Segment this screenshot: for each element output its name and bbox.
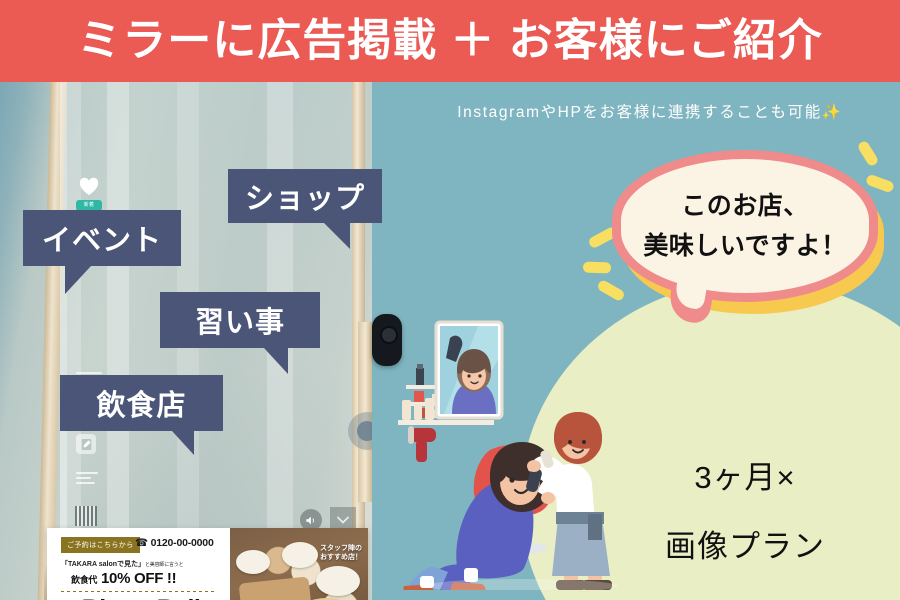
- plan-label: 3ヶ月× 画像プラン: [630, 452, 860, 566]
- subheadline: InstagramやHPをお客様に連携することも可能✨: [400, 97, 900, 125]
- customer-quote-bubble: このお店、 美味しいですよ！: [612, 150, 892, 325]
- ad-discount-value: 10% OFF !!: [101, 570, 176, 587]
- bubble-shop[interactable]: ショップ: [228, 169, 382, 223]
- menu-lines-icon[interactable]: [76, 472, 98, 486]
- bubble-restaurant-label: 飲食店: [96, 382, 186, 424]
- quote-bubble-text: このお店、 美味しいですよ！: [621, 159, 869, 293]
- header-banner: ミラーに広告掲載 ＋ お客様にご紹介: [0, 0, 900, 82]
- bubble-lessons-label: 習い事: [195, 299, 285, 341]
- ad-food-board: [239, 576, 312, 600]
- quote-line-1: このお店、: [681, 186, 809, 226]
- mirror-frame-left-inner: [60, 82, 67, 600]
- ad-recommend-label: スタッフ陣の おすすめ店！: [320, 544, 362, 562]
- bubble-shop-label: ショップ: [245, 175, 365, 217]
- ad-recommend-line1: スタッフ陣の: [320, 544, 362, 553]
- sparkle-dash-icon: [583, 262, 611, 274]
- advertisement-card[interactable]: ご予約はこちらから ☎ 0120-00-0000 「TAKARA salonで見…: [47, 528, 368, 600]
- bubble-event[interactable]: イベント: [23, 210, 181, 266]
- ad-brand-name: Bistro Bell: [61, 595, 221, 600]
- ad-food-plate: [236, 550, 270, 574]
- ad-recommend-line2: おすすめ店！: [320, 553, 362, 562]
- ad-divider-top: [61, 591, 217, 592]
- page-title: ミラーに広告掲載 ＋ お客様にご紹介: [77, 19, 823, 63]
- sidebar-divider: [76, 372, 102, 374]
- qr-code-icon[interactable]: [75, 506, 97, 526]
- salon-illustration: [392, 290, 624, 590]
- plan-type: 画像プラン: [665, 521, 825, 566]
- heart-icon[interactable]: [78, 176, 100, 196]
- subheadline-text: InstagramやHPをお客様に連携することも可能✨: [457, 100, 842, 122]
- ad-card-info: ご予約はこちらから ☎ 0120-00-0000 「TAKARA salonで見…: [47, 528, 230, 600]
- ad-food-plate: [282, 542, 318, 568]
- ad-food-plate: [316, 566, 360, 596]
- bubble-tail: [65, 266, 91, 294]
- plan-duration: 3ヶ月×: [694, 452, 795, 497]
- ad-quote-small: と美容師に言うと: [145, 562, 183, 568]
- bubble-restaurant[interactable]: 飲食店: [60, 375, 223, 431]
- poster-canvas: ミラーに広告掲載 ＋ お客様にご紹介 InstagramやHPをお客様に連携する…: [0, 0, 900, 600]
- ad-discount-prefix: 飲食代: [71, 575, 97, 585]
- ad-quote-line: 「TAKARA salonで見た」と美容師に言うと: [61, 559, 221, 569]
- ad-food-photo: スタッフ陣の おすすめ店！: [230, 528, 368, 600]
- quote-line-2: 美味しいですよ！: [643, 226, 846, 266]
- ad-discount: 飲食代 10% OFF !!: [71, 570, 176, 587]
- bubble-tail: [264, 348, 288, 374]
- bubble-tail: [172, 431, 194, 455]
- bubble-event-label: イベント: [42, 217, 162, 259]
- bubble-tail: [324, 223, 350, 249]
- note-icon[interactable]: [76, 434, 96, 454]
- ad-phone-number: ☎ 0120-00-0000: [135, 537, 214, 549]
- ad-reservation-badge[interactable]: ご予約はこちらから: [61, 537, 140, 553]
- bubble-lessons[interactable]: 習い事: [160, 292, 320, 348]
- ad-quote-main: 「TAKARA salonで見た」: [61, 561, 145, 568]
